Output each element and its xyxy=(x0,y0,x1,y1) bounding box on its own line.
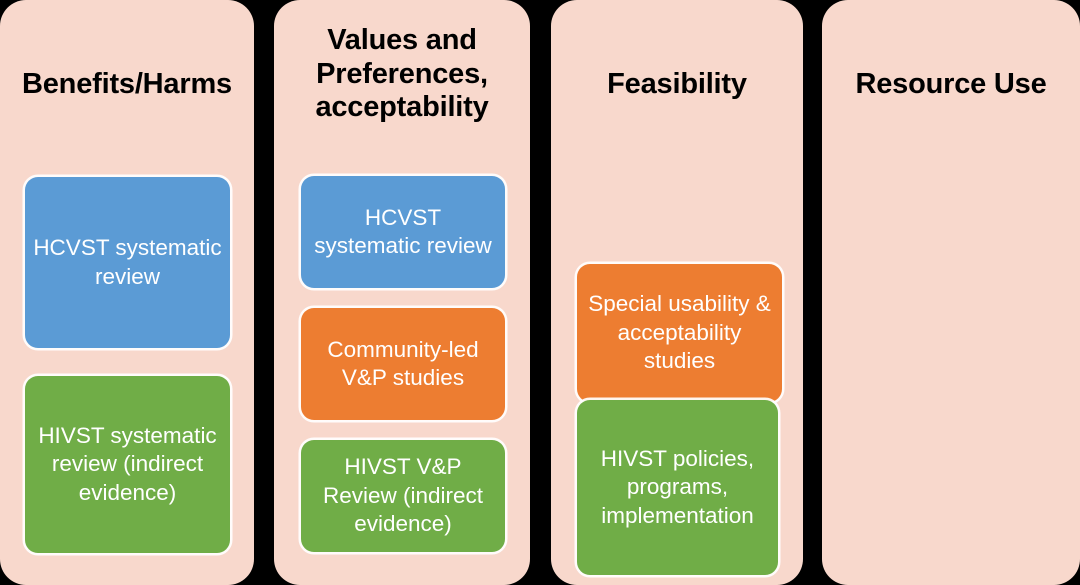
node-community-led-vp-studies[interactable]: Community-led V&P studies xyxy=(301,308,505,420)
column-feasibility: Feasibility Special usability & acceptab… xyxy=(551,0,803,585)
diagram-canvas: Benefits/Harms HCVST systematic review H… xyxy=(0,0,1080,585)
node-hivst-vp-review-indirect[interactable]: HIVST V&P Review (indirect evidence) xyxy=(301,440,505,552)
node-label: HCVST systematic review xyxy=(33,234,222,291)
node-hivst-systematic-review-indirect[interactable]: HIVST systematic review (indirect eviden… xyxy=(25,376,230,553)
node-special-usability-acceptability-studies[interactable]: Special usability & acceptability studie… xyxy=(577,264,782,402)
node-label: HIVST V&P Review (indirect evidence) xyxy=(309,453,497,538)
column-values-preferences-acceptability: Values and Preferences, acceptability HC… xyxy=(274,0,530,585)
column-title-values-preferences-acceptability: Values and Preferences, acceptability xyxy=(280,24,524,125)
column-benefits-harms: Benefits/Harms HCVST systematic review H… xyxy=(0,0,254,585)
node-hivst-policies-programs-implementation[interactable]: HIVST policies, programs, implementation xyxy=(577,400,778,575)
column-resource-use: Resource Use xyxy=(822,0,1080,585)
node-label: HCVST systematic review xyxy=(309,204,497,261)
column-title-resource-use: Resource Use xyxy=(828,68,1074,102)
column-title-feasibility: Feasibility xyxy=(557,68,797,102)
node-label: Special usability & acceptability studie… xyxy=(585,290,774,375)
column-title-benefits-harms: Benefits/Harms xyxy=(6,68,248,102)
node-label: HIVST policies, programs, implementation xyxy=(585,445,770,530)
node-label: HIVST systematic review (indirect eviden… xyxy=(33,422,222,507)
node-label: Community-led V&P studies xyxy=(309,336,497,393)
node-hcvst-systematic-review[interactable]: HCVST systematic review xyxy=(25,177,230,348)
node-hcvst-systematic-review[interactable]: HCVST systematic review xyxy=(301,176,505,288)
